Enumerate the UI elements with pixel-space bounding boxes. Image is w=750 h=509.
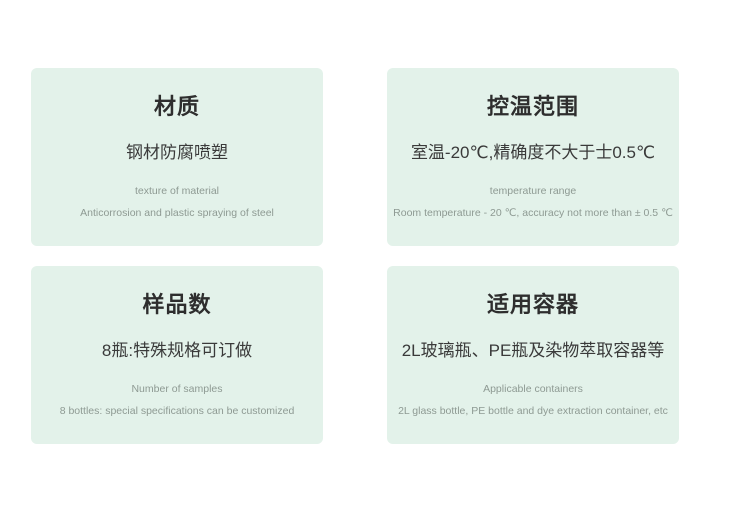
spec-card-material: 材质 钢材防腐喷塑 texture of material Anticorros…: [31, 68, 323, 246]
card-caption-en: Applicable containers: [483, 383, 583, 397]
card-title: 样品数: [142, 292, 211, 318]
card-caption-en-secondary: 8 bottles: special specifications can be…: [60, 405, 295, 419]
spec-card-sample-count: 样品数 8瓶:特殊规格可订做 Number of samples 8 bottl…: [31, 266, 323, 444]
card-caption-en-secondary: Anticorrosion and plastic spraying of st…: [80, 207, 274, 221]
card-value: 8瓶:特殊规格可订做: [102, 340, 252, 362]
card-title: 材质: [154, 94, 200, 120]
card-caption-en: temperature range: [490, 185, 576, 199]
card-caption-en: texture of material: [135, 185, 219, 199]
spec-card-applicable-containers: 适用容器 2L玻璃瓶、PE瓶及染物萃取容器等 Applicable contai…: [387, 266, 679, 444]
card-value: 钢材防腐喷塑: [126, 142, 228, 164]
spec-card-grid: 材质 钢材防腐喷塑 texture of material Anticorros…: [31, 68, 719, 444]
card-caption-en-secondary: Room temperature - 20 ℃, accuracy not mo…: [393, 207, 673, 221]
card-caption-en: Number of samples: [131, 383, 222, 397]
spec-card-temperature-range: 控温范围 室温-20℃,精确度不大于士0.5℃ temperature rang…: [387, 68, 679, 246]
card-title: 适用容器: [487, 292, 579, 318]
card-title: 控温范围: [487, 94, 579, 120]
card-value: 室温-20℃,精确度不大于士0.5℃: [411, 142, 655, 164]
card-value: 2L玻璃瓶、PE瓶及染物萃取容器等: [402, 340, 665, 362]
card-caption-en-secondary: 2L glass bottle, PE bottle and dye extra…: [398, 405, 668, 419]
